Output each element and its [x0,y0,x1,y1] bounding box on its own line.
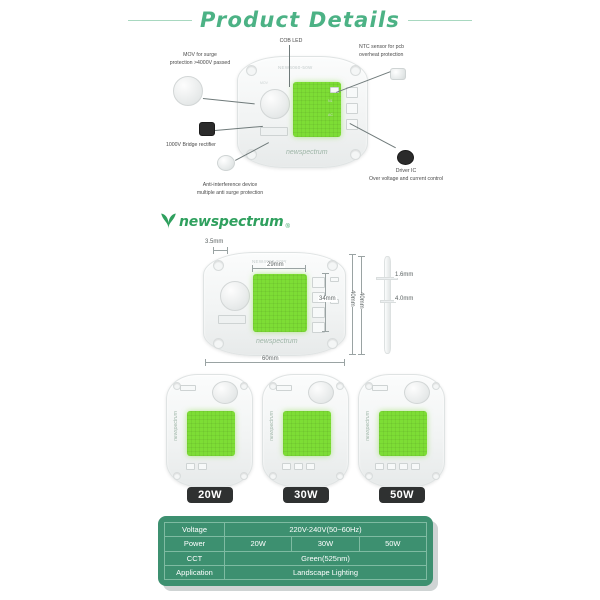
dim-label-board-height: 40mm [348,290,356,307]
board-brand-text: newspectrum [173,411,179,441]
mount-hole [336,472,344,480]
dim-label-board-width: 60mm [261,356,280,362]
dim-tick [349,254,356,255]
spec-table: Voltage 220V-240V(50~60Hz) Power 20W 30W… [158,516,433,586]
dim-tick [252,265,253,272]
bridge-rectifier-component [218,315,246,324]
mount-hole [365,472,373,480]
dim-tick [205,359,206,366]
callout-ntc: NTC sensor for pcb overheat protection [359,44,455,59]
dim-label-side-pin: 1.6mm [394,272,414,278]
mount-hole [240,382,248,390]
brand-logo: newspectrum ® [160,212,290,230]
dim-tick [349,354,356,355]
driver-ic-closeup [397,150,414,165]
driver-pad [387,463,396,470]
side-profile-body [384,256,391,354]
bridge-rectifier-component [276,385,292,391]
bridge-rectifier-component [372,385,388,391]
callout-driver-ic: Driver IC Over voltage and current contr… [330,168,482,183]
leaf-icon [160,212,177,230]
dim-tick [358,256,365,257]
driver-pad [411,463,420,470]
dim-label-side-height: 40mm [357,292,365,309]
ntc-pad [330,277,339,282]
callout-bridge-rectifier: 1000V Bridge rectifier [166,142,246,150]
mov-component [212,381,238,404]
callout-cob-led: COB LED [259,38,323,46]
pcb-board-annotated: NEW4060-50W N1 AC MOV newspectrum [237,56,368,168]
dim-line-cob-width [252,268,306,269]
dim-label-side-thickness: 4.0mm [394,296,414,302]
board-brand-text: newspectrum [365,411,371,441]
driver-pad [346,87,358,98]
callout-anti-interference: Anti-interference device multiple anti s… [178,182,282,197]
driver-pad [312,277,325,288]
board-mark: MOV [260,81,268,85]
mount-hole [173,472,181,480]
callout-mov: MOV for surge protection >4000V passed [150,52,250,67]
page-title-row: Product Details [0,8,600,32]
mount-hole [240,472,248,480]
mount-hole [432,472,440,480]
cob-led-chip [187,411,235,456]
registered-mark: ® [286,224,290,230]
mount-hole [432,382,440,390]
dim-line-pad-pitch [213,250,227,251]
spec-key: CCT [165,551,225,565]
driver-pad [186,463,195,470]
bridge-rectifier-component [180,385,196,391]
dim-tick [305,265,306,272]
spec-value: 30W [292,537,359,551]
board-code-label: NEW4060-50W [278,65,313,70]
dim-tick [227,247,228,254]
bridge-rectifier-closeup [199,122,215,136]
driver-pad [312,307,325,318]
table-row: Voltage 220V-240V(50~60Hz) [165,523,427,537]
mov-component [260,89,290,119]
variant-wattage-badge: 50W [379,487,425,503]
pcb-board-variant: newspectrum [262,374,349,487]
dim-line-cob-height [325,273,326,331]
bridge-rectifier-component [260,127,288,136]
driver-pad [198,463,207,470]
mov-component [220,281,250,311]
spec-key: Voltage [165,523,225,537]
product-details-page: Product Details NEW4060-50W N1 AC MOV ne… [0,0,600,600]
spec-value: Green(525nm) [225,551,427,565]
mov-component [404,381,430,404]
page-title: Product Details [200,8,400,32]
table-row: Application Landscape Lighting [165,565,427,579]
spec-table-grid: Voltage 220V-240V(50~60Hz) Power 20W 30W… [164,522,427,580]
dim-label-pad-pitch: 3.5mm [204,239,224,245]
dim-line-board-width [205,362,345,363]
driver-pad [399,463,408,470]
mount-hole [269,472,277,480]
driver-pad [282,463,291,470]
driver-pad [375,463,384,470]
pcb-board-variant: newspectrum [358,374,445,487]
cob-led-chip [379,411,427,456]
driver-pad [346,103,358,114]
spec-key: Application [165,565,225,579]
pcb-board-variant: newspectrum [166,374,253,487]
title-rule-right [408,20,472,21]
mount-hole [350,65,361,76]
mov-component [308,381,334,404]
variant-wattage-badge: 30W [283,487,329,503]
table-row: Power 20W 30W 50W [165,537,427,551]
anti-interference-closeup [217,155,235,171]
table-row: CCT Green(525nm) [165,551,427,565]
dim-tick [322,331,329,332]
ntc-sensor-closeup [390,68,406,80]
board-brand-text: newspectrum [256,338,298,345]
mount-hole [327,338,338,349]
dim-label-cob-width: 29mm [266,262,285,268]
variant-wattage-badge: 20W [187,487,233,503]
spec-value: 50W [359,537,426,551]
spec-value: 20W [225,537,292,551]
spec-value: Landscape Lighting [225,565,427,579]
cob-led-chip [253,274,307,332]
mount-hole [213,338,224,349]
spec-value: 220V-240V(50~60Hz) [225,523,427,537]
mount-hole [336,382,344,390]
dim-tick [358,354,365,355]
driver-pad [294,463,303,470]
title-rule-left [128,20,192,21]
spec-key: Power [165,537,225,551]
board-brand-text: newspectrum [286,149,328,156]
lead-line [289,45,290,87]
board-brand-text: newspectrum [269,411,275,441]
driver-pad [306,463,315,470]
dim-tick [344,359,345,366]
dim-label-cob-height: 34mm [318,296,337,302]
mov-component-closeup [173,76,203,106]
brand-name: newspectrum [179,214,284,230]
board-mark: AC [328,113,333,117]
dim-tick [213,247,214,254]
dim-tick [322,273,329,274]
mount-hole [327,260,338,271]
cob-led-chip [283,411,331,456]
board-mark: N1 [328,99,332,103]
mount-hole [350,149,361,160]
mount-hole [213,260,224,271]
